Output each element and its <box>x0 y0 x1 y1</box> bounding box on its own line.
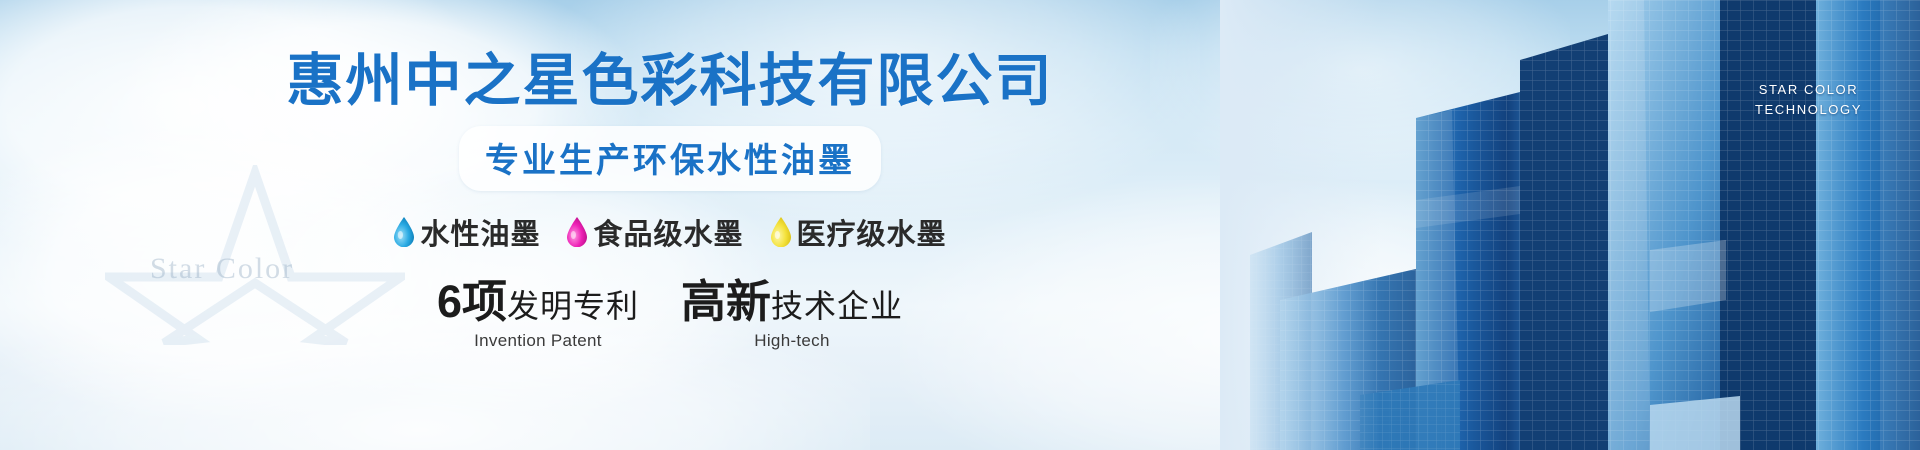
credential-highlight: 6项 <box>437 276 507 327</box>
water-drop-icon <box>393 217 415 247</box>
company-hero-banner: Star Color <box>0 0 1920 450</box>
credential-en: Invention Patent <box>437 331 639 351</box>
credential-rest: 技术企业 <box>771 288 903 324</box>
water-drop-icon <box>566 217 588 247</box>
banner-content: 惠州中之星色彩科技有限公司 专业生产环保水性油墨 水性油墨 <box>0 0 1340 450</box>
list-item: 食品级水墨 <box>566 211 743 253</box>
list-item: 水性油墨 <box>393 211 540 253</box>
ink-product-list: 水性油墨 食品级水墨 <box>393 211 946 253</box>
credential-cn: 6项发明专利 <box>437 279 639 324</box>
credential-item: 6项发明专利 Invention Patent <box>437 279 639 351</box>
tagline-pill: 专业生产环保水性油墨 <box>459 126 881 191</box>
credential-cn: 高新技术企业 <box>681 279 903 324</box>
list-item: 医疗级水墨 <box>770 211 947 253</box>
credential-item: 高新技术企业 High-tech <box>681 279 903 351</box>
company-title: 惠州中之星色彩科技有限公司 <box>287 52 1054 112</box>
ink-product-label: 医疗级水墨 <box>797 211 947 253</box>
ink-product-label: 水性油墨 <box>420 211 540 253</box>
water-drop-icon <box>770 217 792 247</box>
credential-rest: 发明专利 <box>507 288 639 324</box>
credential-en: High-tech <box>681 331 903 351</box>
credentials-row: 6项发明专利 Invention Patent 高新技术企业 High-tech <box>437 279 903 351</box>
tagline-text: 专业生产环保水性油墨 <box>485 142 855 180</box>
credential-highlight: 高新 <box>681 276 771 327</box>
ink-product-label: 食品级水墨 <box>593 211 743 253</box>
